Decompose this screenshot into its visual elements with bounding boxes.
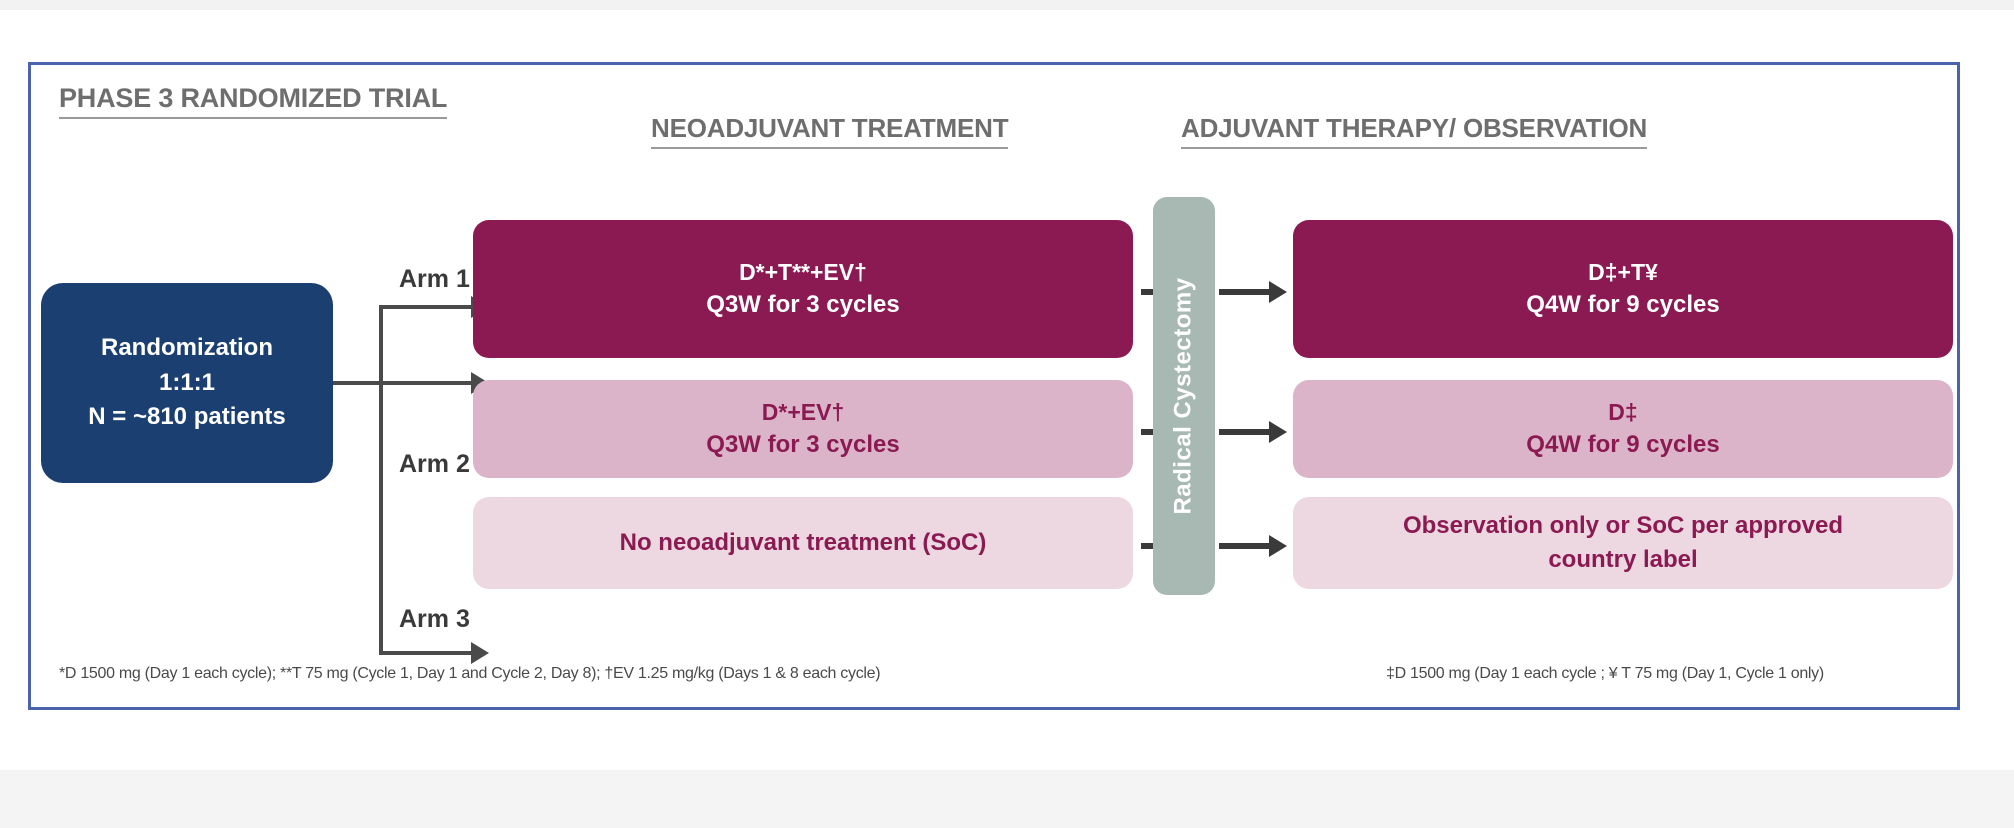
connector-arm2 xyxy=(379,381,479,385)
neoadjuvant-schedule-arm2: Q3W for 3 cycles xyxy=(706,428,899,462)
radical-cystectomy-box: Radical Cystectomy xyxy=(1153,197,1215,595)
column-header-adjuvant: ADJUVANT THERAPY/ OBSERVATION xyxy=(1181,113,1647,149)
arm-label-2: Arm 2 xyxy=(399,450,470,479)
randomization-sample-size: N = ~810 patients xyxy=(88,400,285,435)
adjuvant-box-arm2: D‡ Q4W for 9 cycles xyxy=(1293,380,1953,478)
neoadjuvant-schedule-arm1: Q3W for 3 cycles xyxy=(706,288,899,322)
neoadjuvant-box-arm3: No neoadjuvant treatment (SoC) xyxy=(473,497,1133,589)
connector-stub xyxy=(333,381,381,385)
adjuvant-schedule-arm2: Q4W for 9 cycles xyxy=(1526,428,1719,462)
randomization-ratio: 1:1:1 xyxy=(159,366,215,401)
adjuvant-observation-line2: country label xyxy=(1548,543,1697,577)
neoadjuvant-regimen-arm2: D*+EV† xyxy=(762,396,844,428)
arm-label-1: Arm 1 xyxy=(399,265,470,294)
radical-cystectomy-label: Radical Cystectomy xyxy=(1170,277,1198,514)
top-band xyxy=(0,0,2014,10)
adjuvant-observation-line1: Observation only or SoC per approved xyxy=(1403,509,1843,543)
neoadjuvant-box-arm1: D*+T**+EV† Q3W for 3 cycles xyxy=(473,220,1133,358)
footnote-left: *D 1500 mg (Day 1 each cycle); **T 75 mg… xyxy=(59,665,880,683)
adjuvant-box-arm1: D‡+T¥ Q4W for 9 cycles xyxy=(1293,220,1953,358)
randomization-line1: Randomization xyxy=(101,331,273,366)
neoadjuvant-regimen-arm1: D*+T**+EV† xyxy=(739,256,867,288)
bottom-band xyxy=(0,770,2014,828)
neoadjuvant-regimen-arm3: No neoadjuvant treatment (SoC) xyxy=(620,526,987,560)
connector-vertical xyxy=(379,305,383,655)
arm-label-3: Arm 3 xyxy=(399,605,470,634)
adjuvant-regimen-arm2: D‡ xyxy=(1608,396,1637,428)
connector-arm1 xyxy=(379,305,479,309)
adjuvant-regimen-arm1: D‡+T¥ xyxy=(1588,256,1658,288)
footnote-right: ‡D 1500 mg (Day 1 each cycle ; ¥ T 75 mg… xyxy=(1386,665,1824,683)
adjuvant-schedule-arm1: Q4W for 9 cycles xyxy=(1526,288,1719,322)
arrowhead-arm3 xyxy=(471,642,489,664)
column-header-neoadjuvant: NEOADJUVANT TREATMENT xyxy=(651,113,1008,149)
randomization-box: Randomization 1:1:1 N = ~810 patients xyxy=(41,283,333,483)
trial-schema-figure: PHASE 3 RANDOMIZED TRIAL NEOADJUVANT TRE… xyxy=(28,62,1960,710)
neoadjuvant-box-arm2: D*+EV† Q3W for 3 cycles xyxy=(473,380,1133,478)
page-root: PHASE 3 RANDOMIZED TRIAL NEOADJUVANT TRE… xyxy=(0,0,2014,828)
connector-arm3 xyxy=(379,651,479,655)
adjuvant-box-arm3: Observation only or SoC per approved cou… xyxy=(1293,497,1953,589)
figure-title: PHASE 3 RANDOMIZED TRIAL xyxy=(59,83,447,119)
